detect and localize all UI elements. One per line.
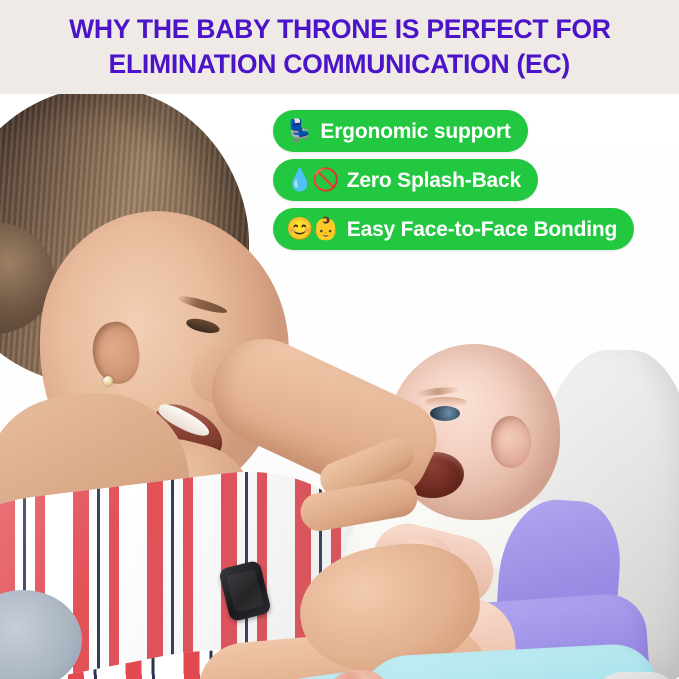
- header-band: WHY THE BABY THRONE IS PERFECT FOR ELIMI…: [0, 0, 679, 94]
- feature-badge-list: 💺 Ergonomic support 💧🚫 Zero Splash-Back …: [273, 110, 634, 250]
- feature-badge-zero-splash-back[interactable]: 💧🚫 Zero Splash-Back: [273, 159, 538, 201]
- page-title-line-2: ELIMINATION COMMUNICATION (EC): [109, 49, 570, 81]
- seat-icon: 💺: [286, 120, 312, 142]
- feature-badge-label: Zero Splash-Back: [347, 170, 521, 191]
- feature-badge-ergonomic-support[interactable]: 💺 Ergonomic support: [273, 110, 528, 152]
- feature-badge-label: Ergonomic support: [320, 121, 510, 142]
- feature-badge-face-to-face-bonding[interactable]: 😊👶 Easy Face-to-Face Bonding: [273, 208, 634, 250]
- baby-eye: [430, 406, 460, 421]
- feature-badge-label: Easy Face-to-Face Bonding: [347, 219, 617, 240]
- infographic-image: WHY THE BABY THRONE IS PERFECT FOR ELIMI…: [0, 0, 679, 679]
- smiling-face-baby-face-icon: 😊👶: [286, 218, 339, 240]
- mother-earring: [103, 376, 113, 386]
- droplet-prohibited-icon: 💧🚫: [286, 169, 339, 191]
- baby-ear: [491, 416, 531, 468]
- page-title-line-1: WHY THE BABY THRONE IS PERFECT FOR: [69, 14, 611, 46]
